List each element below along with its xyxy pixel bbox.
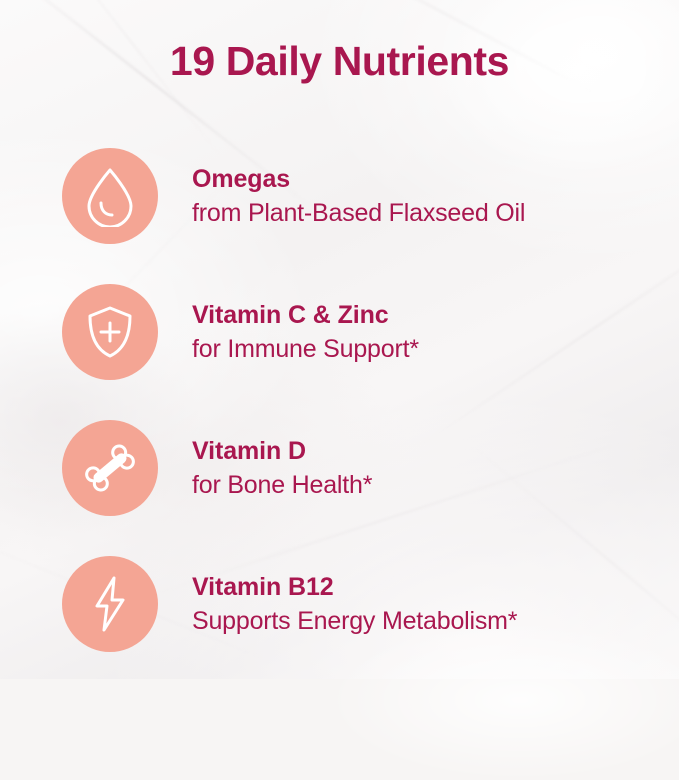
bone-icon bbox=[79, 437, 141, 499]
nutrient-list: Omegas from Plant-Based Flaxseed Oil Vit… bbox=[62, 128, 662, 672]
list-item-title: Vitamin B12 bbox=[192, 571, 517, 603]
list-item-subtitle: for Immune Support* bbox=[192, 333, 419, 365]
water-drop-icon bbox=[82, 165, 138, 227]
icon-badge bbox=[62, 284, 158, 380]
list-item-subtitle: from Plant-Based Flaxseed Oil bbox=[192, 197, 525, 229]
lightning-bolt-icon bbox=[87, 573, 133, 635]
icon-badge bbox=[62, 148, 158, 244]
list-item-text: Omegas from Plant-Based Flaxseed Oil bbox=[192, 163, 525, 229]
marble-background-panel: 19 Daily Nutrients Omegas from Plant-Bas… bbox=[0, 0, 679, 679]
list-item-subtitle: for Bone Health* bbox=[192, 469, 372, 501]
page-title: 19 Daily Nutrients bbox=[0, 38, 679, 85]
list-item: Vitamin D for Bone Health* bbox=[62, 400, 662, 536]
list-item: Omegas from Plant-Based Flaxseed Oil bbox=[62, 128, 662, 264]
list-item-text: Vitamin B12 Supports Energy Metabolism* bbox=[192, 571, 517, 637]
list-item-title: Vitamin D bbox=[192, 435, 372, 467]
list-item-text: Vitamin C & Zinc for Immune Support* bbox=[192, 299, 419, 365]
icon-badge bbox=[62, 556, 158, 652]
shield-plus-icon bbox=[82, 301, 138, 363]
list-item-subtitle: Supports Energy Metabolism* bbox=[192, 605, 517, 637]
list-item-title: Omegas bbox=[192, 163, 525, 195]
list-item: Vitamin B12 Supports Energy Metabolism* bbox=[62, 536, 662, 672]
list-item: Vitamin C & Zinc for Immune Support* bbox=[62, 264, 662, 400]
list-item-text: Vitamin D for Bone Health* bbox=[192, 435, 372, 501]
list-item-title: Vitamin C & Zinc bbox=[192, 299, 419, 331]
icon-badge bbox=[62, 420, 158, 516]
